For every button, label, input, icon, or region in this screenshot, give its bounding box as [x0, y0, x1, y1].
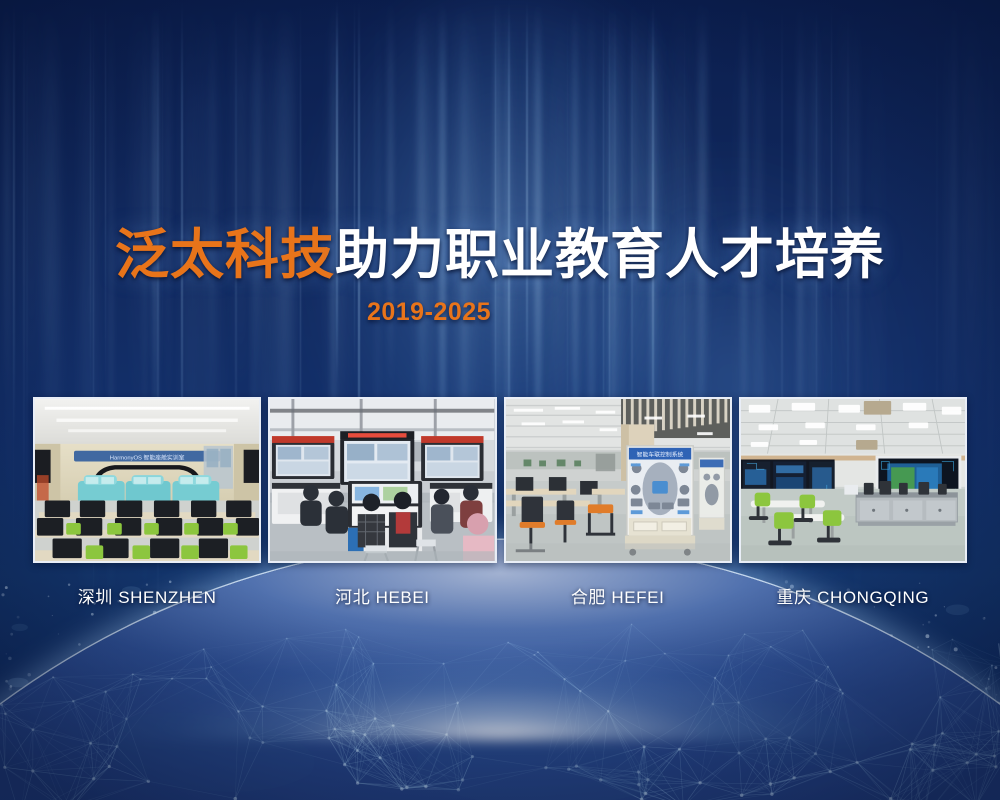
gallery-photo-shenzhen[interactable]: HarmonyOS 智能座舱实训室	[33, 397, 261, 563]
photo-captions: 深圳 SHENZHEN 河北 HEBEI 合肥 HEFEI 重庆 CHONGQI…	[33, 583, 967, 608]
svg-text:智能车联控制系统: 智能车联控制系统	[636, 451, 683, 459]
caption-hefei: 合肥 HEFEI	[504, 583, 732, 608]
caption-hebei: 河北 HEBEI	[268, 583, 496, 608]
page-title: 泛太科技助力职业教育人才培养	[0, 226, 1000, 284]
title-tagline: 助力职业教育人才培养	[335, 225, 885, 285]
year-range: 2019-2025	[0, 298, 1000, 327]
caption-chongqing: 重庆 CHONGQING	[739, 583, 967, 608]
gallery-photo-hebei[interactable]	[268, 397, 496, 563]
brand-name: 泛太科技	[115, 225, 335, 285]
svg-text:HarmonyOS 智能座舱实训室: HarmonyOS 智能座舱实训室	[110, 454, 185, 462]
caption-shenzhen: 深圳 SHENZHEN	[33, 583, 261, 608]
photo-gallery: HarmonyOS 智能座舱实训室	[33, 397, 967, 563]
poster-stage: 泛太科技助力职业教育人才培养 2019-2025	[0, 0, 1000, 800]
gallery-photo-hefei[interactable]: 智能车联控制系统	[504, 397, 732, 563]
globe-sphere	[0, 540, 1000, 800]
title-block: 泛太科技助力职业教育人才培养 2019-2025	[0, 226, 1000, 327]
gallery-photo-chongqing[interactable]	[739, 397, 967, 563]
